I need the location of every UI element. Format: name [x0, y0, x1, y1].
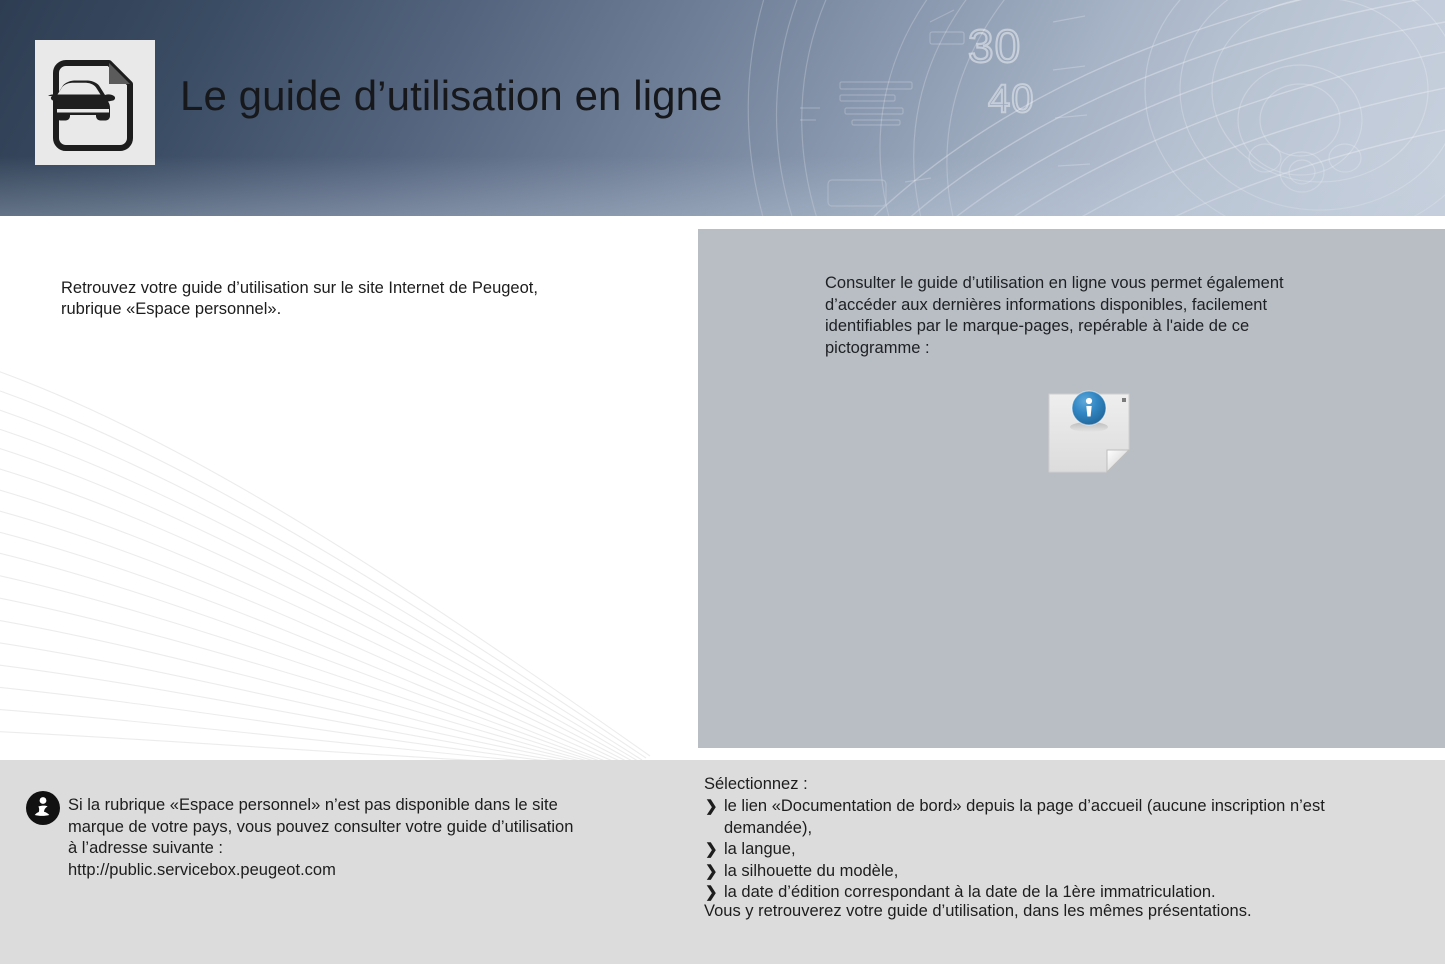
background-line-watermark — [0, 336, 700, 760]
info-panel-line-1: Consulter le guide d’utilisation en lign… — [825, 273, 1390, 295]
header-icon-box — [35, 40, 155, 165]
list-item-label: le lien «Documentation de bord» depuis l… — [724, 797, 1325, 837]
chevron-right-icon: ❯ — [705, 861, 718, 883]
page-root: 30 40 Le guide d’utilisation en ligne — [0, 0, 1445, 964]
steps-title: Sélectionnez : — [704, 774, 808, 795]
left-intro-line-2: rubrique «Espace personnel». — [61, 299, 661, 320]
bookmark-note-info-pictogram — [1043, 386, 1135, 478]
left-intro-line-1: Retrouvez votre guide d’utilisation sur … — [61, 278, 661, 299]
bottom-left-text: Si la rubrique «Espace personnel» n’est … — [68, 795, 683, 881]
left-intro-text: Retrouvez votre guide d’utilisation sur … — [61, 278, 661, 320]
list-item: ❯ la langue, — [704, 839, 1384, 861]
bottom-left-line-3: à l’adresse suivante : — [68, 838, 683, 860]
list-item-label: la date d’édition correspondant à la dat… — [724, 883, 1216, 901]
list-item: ❯ la silhouette du modèle, — [704, 861, 1384, 883]
header-fade — [0, 156, 1445, 216]
list-item: ❯ le lien «Documentation de bord» depuis… — [704, 796, 1384, 839]
svg-text:30: 30 — [968, 20, 1021, 72]
bottom-band: Si la rubrique «Espace personnel» n’est … — [0, 760, 1445, 964]
bottom-left-line-1: Si la rubrique «Espace personnel» n’est … — [68, 795, 683, 817]
steps-list: ❯ le lien «Documentation de bord» depuis… — [704, 796, 1384, 904]
info-panel-line-4: pictogramme : — [825, 338, 1390, 360]
list-item-label: la langue, — [724, 840, 796, 858]
info-circle-icon — [25, 790, 61, 826]
chevron-right-icon: ❯ — [705, 796, 718, 818]
main-body: Retrouvez votre guide d’utilisation sur … — [0, 216, 1445, 760]
steps-footer: Vous y retrouverez votre guide d’utilisa… — [704, 901, 1252, 923]
car-document-icon — [35, 40, 155, 165]
bottom-right-steps: Sélectionnez : ❯ le lien «Documentation … — [698, 760, 1445, 964]
bottom-left-url[interactable]: http://public.servicebox.peugeot.com — [68, 860, 683, 882]
list-item-label: la silhouette du modèle, — [724, 862, 898, 880]
bottom-left-line-2: marque de votre pays, vous pouvez consul… — [68, 817, 683, 839]
info-panel-line-2: d’accéder aux dernières informations dis… — [825, 295, 1390, 317]
info-panel: Consulter le guide d’utilisation en lign… — [698, 229, 1445, 748]
info-panel-line-3: identifiables par le marque-pages, repér… — [825, 316, 1390, 338]
svg-text:40: 40 — [988, 77, 1035, 121]
bottom-left-note: Si la rubrique «Espace personnel» n’est … — [0, 760, 698, 964]
info-panel-text: Consulter le guide d’utilisation en lign… — [825, 273, 1390, 359]
chevron-right-icon: ❯ — [705, 839, 718, 861]
page-header: 30 40 Le guide d’utilisation en ligne — [0, 0, 1445, 216]
page-title: Le guide d’utilisation en ligne — [180, 70, 723, 122]
